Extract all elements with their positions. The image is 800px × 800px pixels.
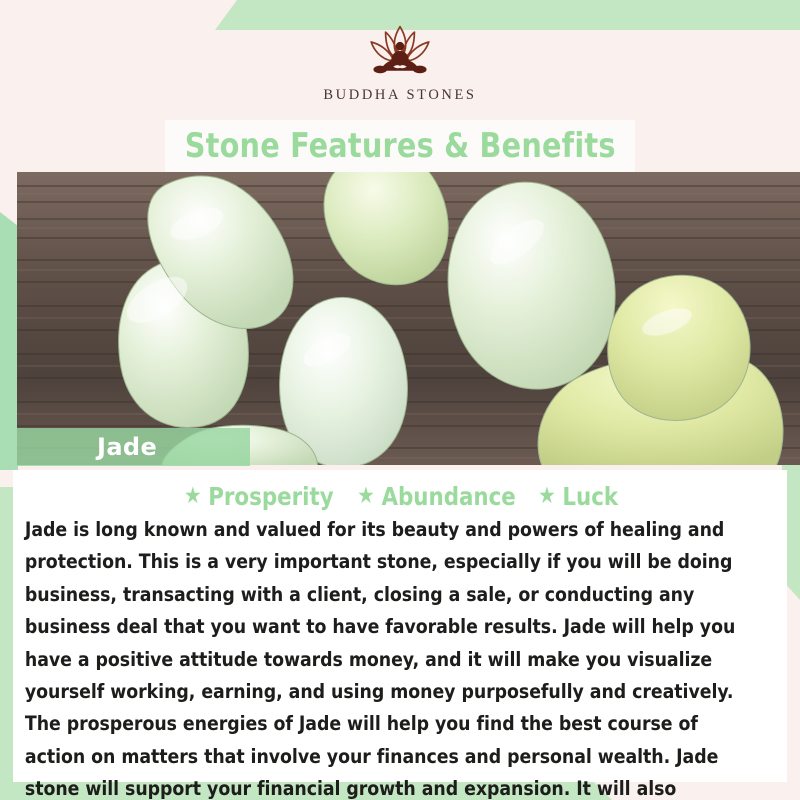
jade-tumbled-stones-photo: [17, 172, 800, 465]
benefit-item-abundance: ★ Abundance: [357, 482, 516, 511]
benefit-label: Abundance: [382, 482, 516, 511]
page-title-band: Stone Features & Benefits: [165, 120, 635, 172]
brand-header: BUDDHA STONES: [0, 0, 800, 120]
photo-illustration: [17, 172, 800, 465]
star-icon: ★: [357, 485, 375, 508]
lotus-meditation-icon: [346, 22, 454, 80]
star-icon: ★: [538, 485, 556, 508]
stone-description-paragraph: Jade is long known and valued for its be…: [19, 514, 770, 800]
benefit-item-prosperity: ★ Prosperity: [184, 482, 334, 511]
decorative-band-left-photo: [0, 212, 18, 470]
infographic-page: BUDDHA STONES Stone Features & Benefits: [0, 0, 800, 800]
content-panel: ★ Prosperity ★ Abundance ★ Luck Jade is …: [13, 470, 787, 782]
benefit-label: Luck: [563, 482, 619, 511]
benefit-label: Prosperity: [208, 482, 333, 511]
page-title: Stone Features & Benefits: [185, 126, 616, 166]
stone-name-label: Jade: [17, 433, 157, 461]
star-icon: ★: [184, 485, 202, 508]
benefit-item-luck: ★ Luck: [538, 482, 618, 511]
benefits-row: ★ Prosperity ★ Abundance ★ Luck: [19, 480, 781, 512]
brand-name: BUDDHA STONES: [323, 87, 476, 104]
stone-name-badge: Jade: [17, 428, 250, 466]
